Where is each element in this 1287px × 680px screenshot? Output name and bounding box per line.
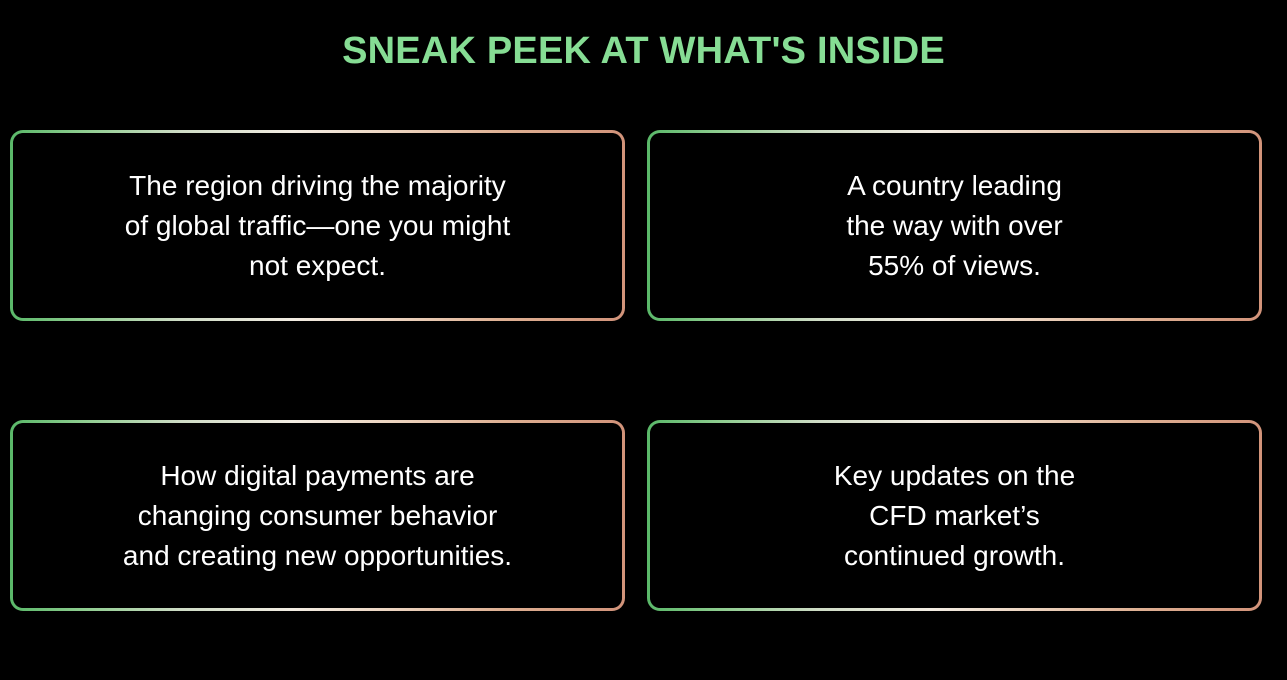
- page-title: SNEAK PEEK AT WHAT'S INSIDE: [0, 28, 1287, 74]
- highlight-card[interactable]: How digital payments are changing consum…: [10, 420, 625, 611]
- highlight-card[interactable]: The region driving the majority of globa…: [10, 130, 625, 321]
- highlight-card-body: The region driving the majority of globa…: [13, 133, 622, 318]
- highlight-card-body: Key updates on the CFD market’s continue…: [650, 423, 1259, 608]
- sneak-peek-slide: SNEAK PEEK AT WHAT'S INSIDE The region d…: [0, 0, 1287, 680]
- highlight-card-text: A country leading the way with over 55% …: [846, 166, 1062, 286]
- highlight-card-body: A country leading the way with over 55% …: [650, 133, 1259, 318]
- highlight-card-text: Key updates on the CFD market’s continue…: [834, 456, 1075, 576]
- highlight-card[interactable]: Key updates on the CFD market’s continue…: [647, 420, 1262, 611]
- highlight-card-body: How digital payments are changing consum…: [13, 423, 622, 608]
- highlight-card-text: How digital payments are changing consum…: [123, 456, 512, 576]
- highlight-card[interactable]: A country leading the way with over 55% …: [647, 130, 1262, 321]
- highlight-card-grid: The region driving the majority of globa…: [10, 130, 1262, 613]
- highlight-card-text: The region driving the majority of globa…: [125, 166, 510, 286]
